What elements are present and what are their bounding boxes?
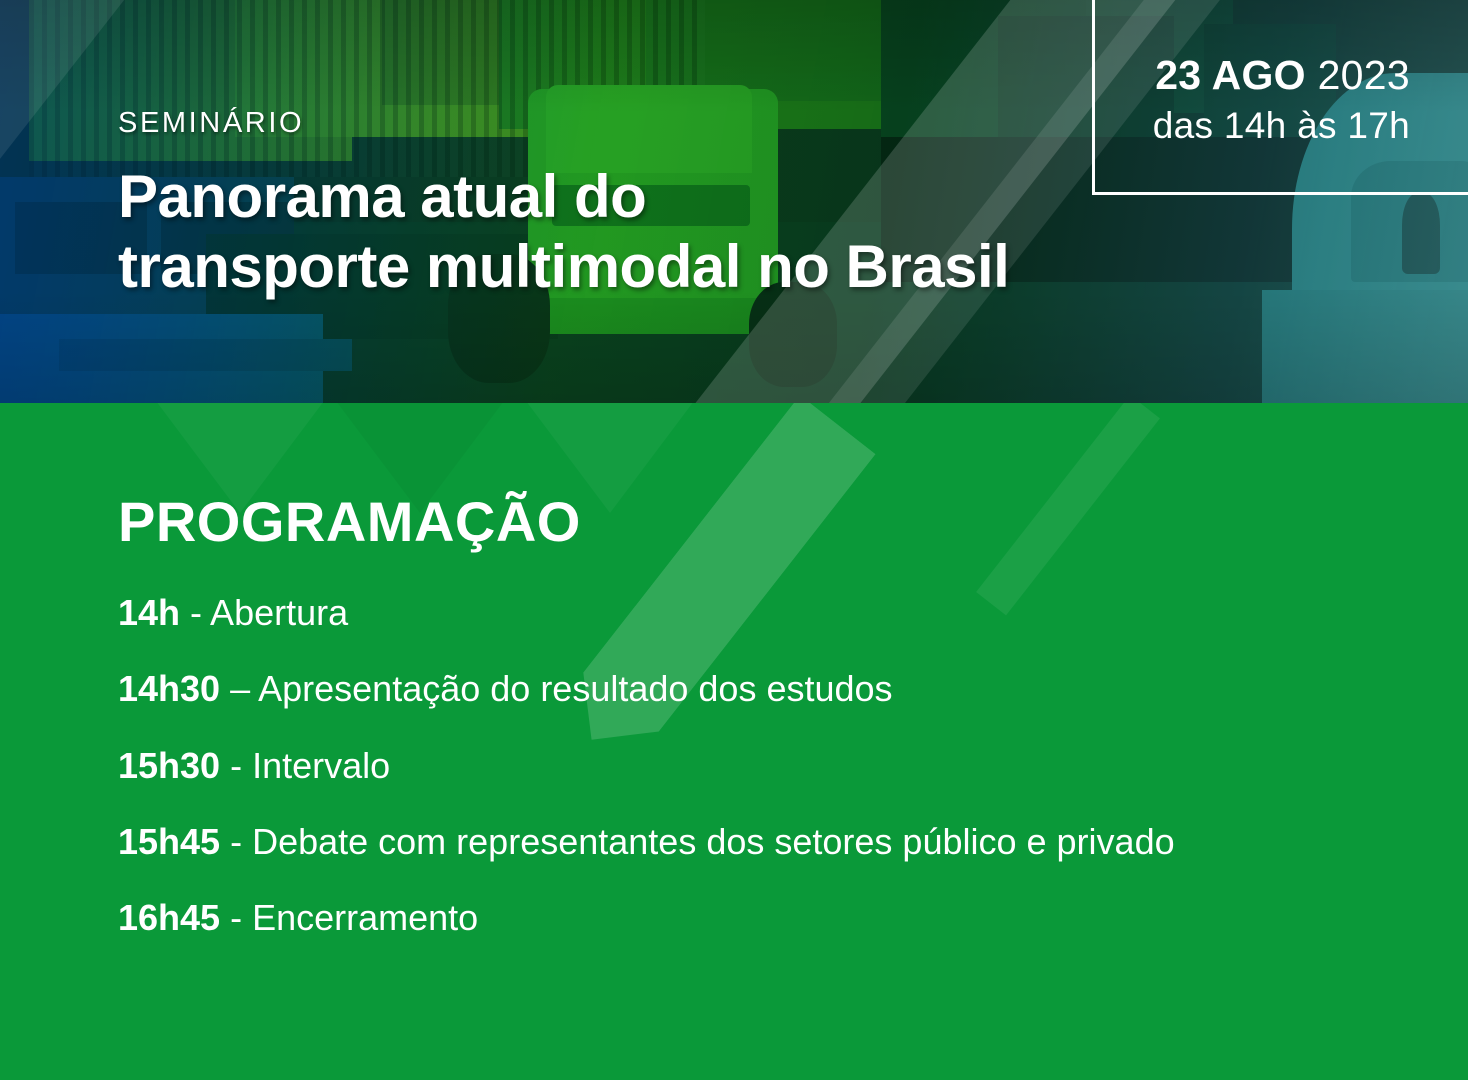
event-date-day-month: 23 AGO	[1155, 52, 1306, 98]
event-kicker: SEMINÁRIO	[118, 107, 304, 140]
schedule-item-description: – Apresentação do resultado dos estudos	[220, 668, 892, 709]
program-schedule-list: 14h - Abertura14h30 – Apresentação do re…	[118, 593, 1418, 975]
schedule-item-description: - Debate com representantes dos setores …	[220, 821, 1175, 862]
schedule-item-description: - Encerramento	[220, 897, 478, 938]
schedule-item-time: 14h	[118, 592, 180, 633]
schedule-item: 15h30 - Intervalo	[118, 746, 1418, 786]
schedule-item-description: - Abertura	[180, 592, 348, 633]
schedule-item-time: 15h45	[118, 821, 220, 862]
event-title-line-2: transporte multimodal no Brasil	[118, 232, 1009, 302]
schedule-item-time: 16h45	[118, 897, 220, 938]
schedule-item-description: - Intervalo	[220, 745, 390, 786]
program-diagonal-ribbon-2	[976, 403, 1160, 615]
schedule-item: 16h45 - Encerramento	[118, 898, 1418, 938]
event-title-line-1: Panorama atual do	[118, 162, 1009, 232]
program-section: PROGRAMAÇÃO 14h - Abertura14h30 – Aprese…	[0, 403, 1468, 1080]
schedule-item-time: 15h30	[118, 745, 220, 786]
schedule-item: 14h30 – Apresentação do resultado dos es…	[118, 669, 1418, 709]
event-time-range: das 14h às 17h	[1095, 105, 1410, 147]
event-date-year: 2023	[1318, 52, 1410, 98]
event-date-badge: 23 AGO 2023 das 14h às 17h	[1092, 0, 1468, 195]
schedule-item: 15h45 - Debate com representantes dos se…	[118, 822, 1418, 862]
event-title: Panorama atual do transporte multimodal …	[118, 162, 1009, 302]
hero-banner: SEMINÁRIO Panorama atual do transporte m…	[0, 0, 1468, 403]
event-poster: SEMINÁRIO Panorama atual do transporte m…	[0, 0, 1468, 1080]
schedule-item: 14h - Abertura	[118, 593, 1418, 633]
schedule-item-time: 14h30	[118, 668, 220, 709]
event-date: 23 AGO 2023	[1095, 52, 1410, 99]
program-heading: PROGRAMAÇÃO	[118, 489, 581, 554]
